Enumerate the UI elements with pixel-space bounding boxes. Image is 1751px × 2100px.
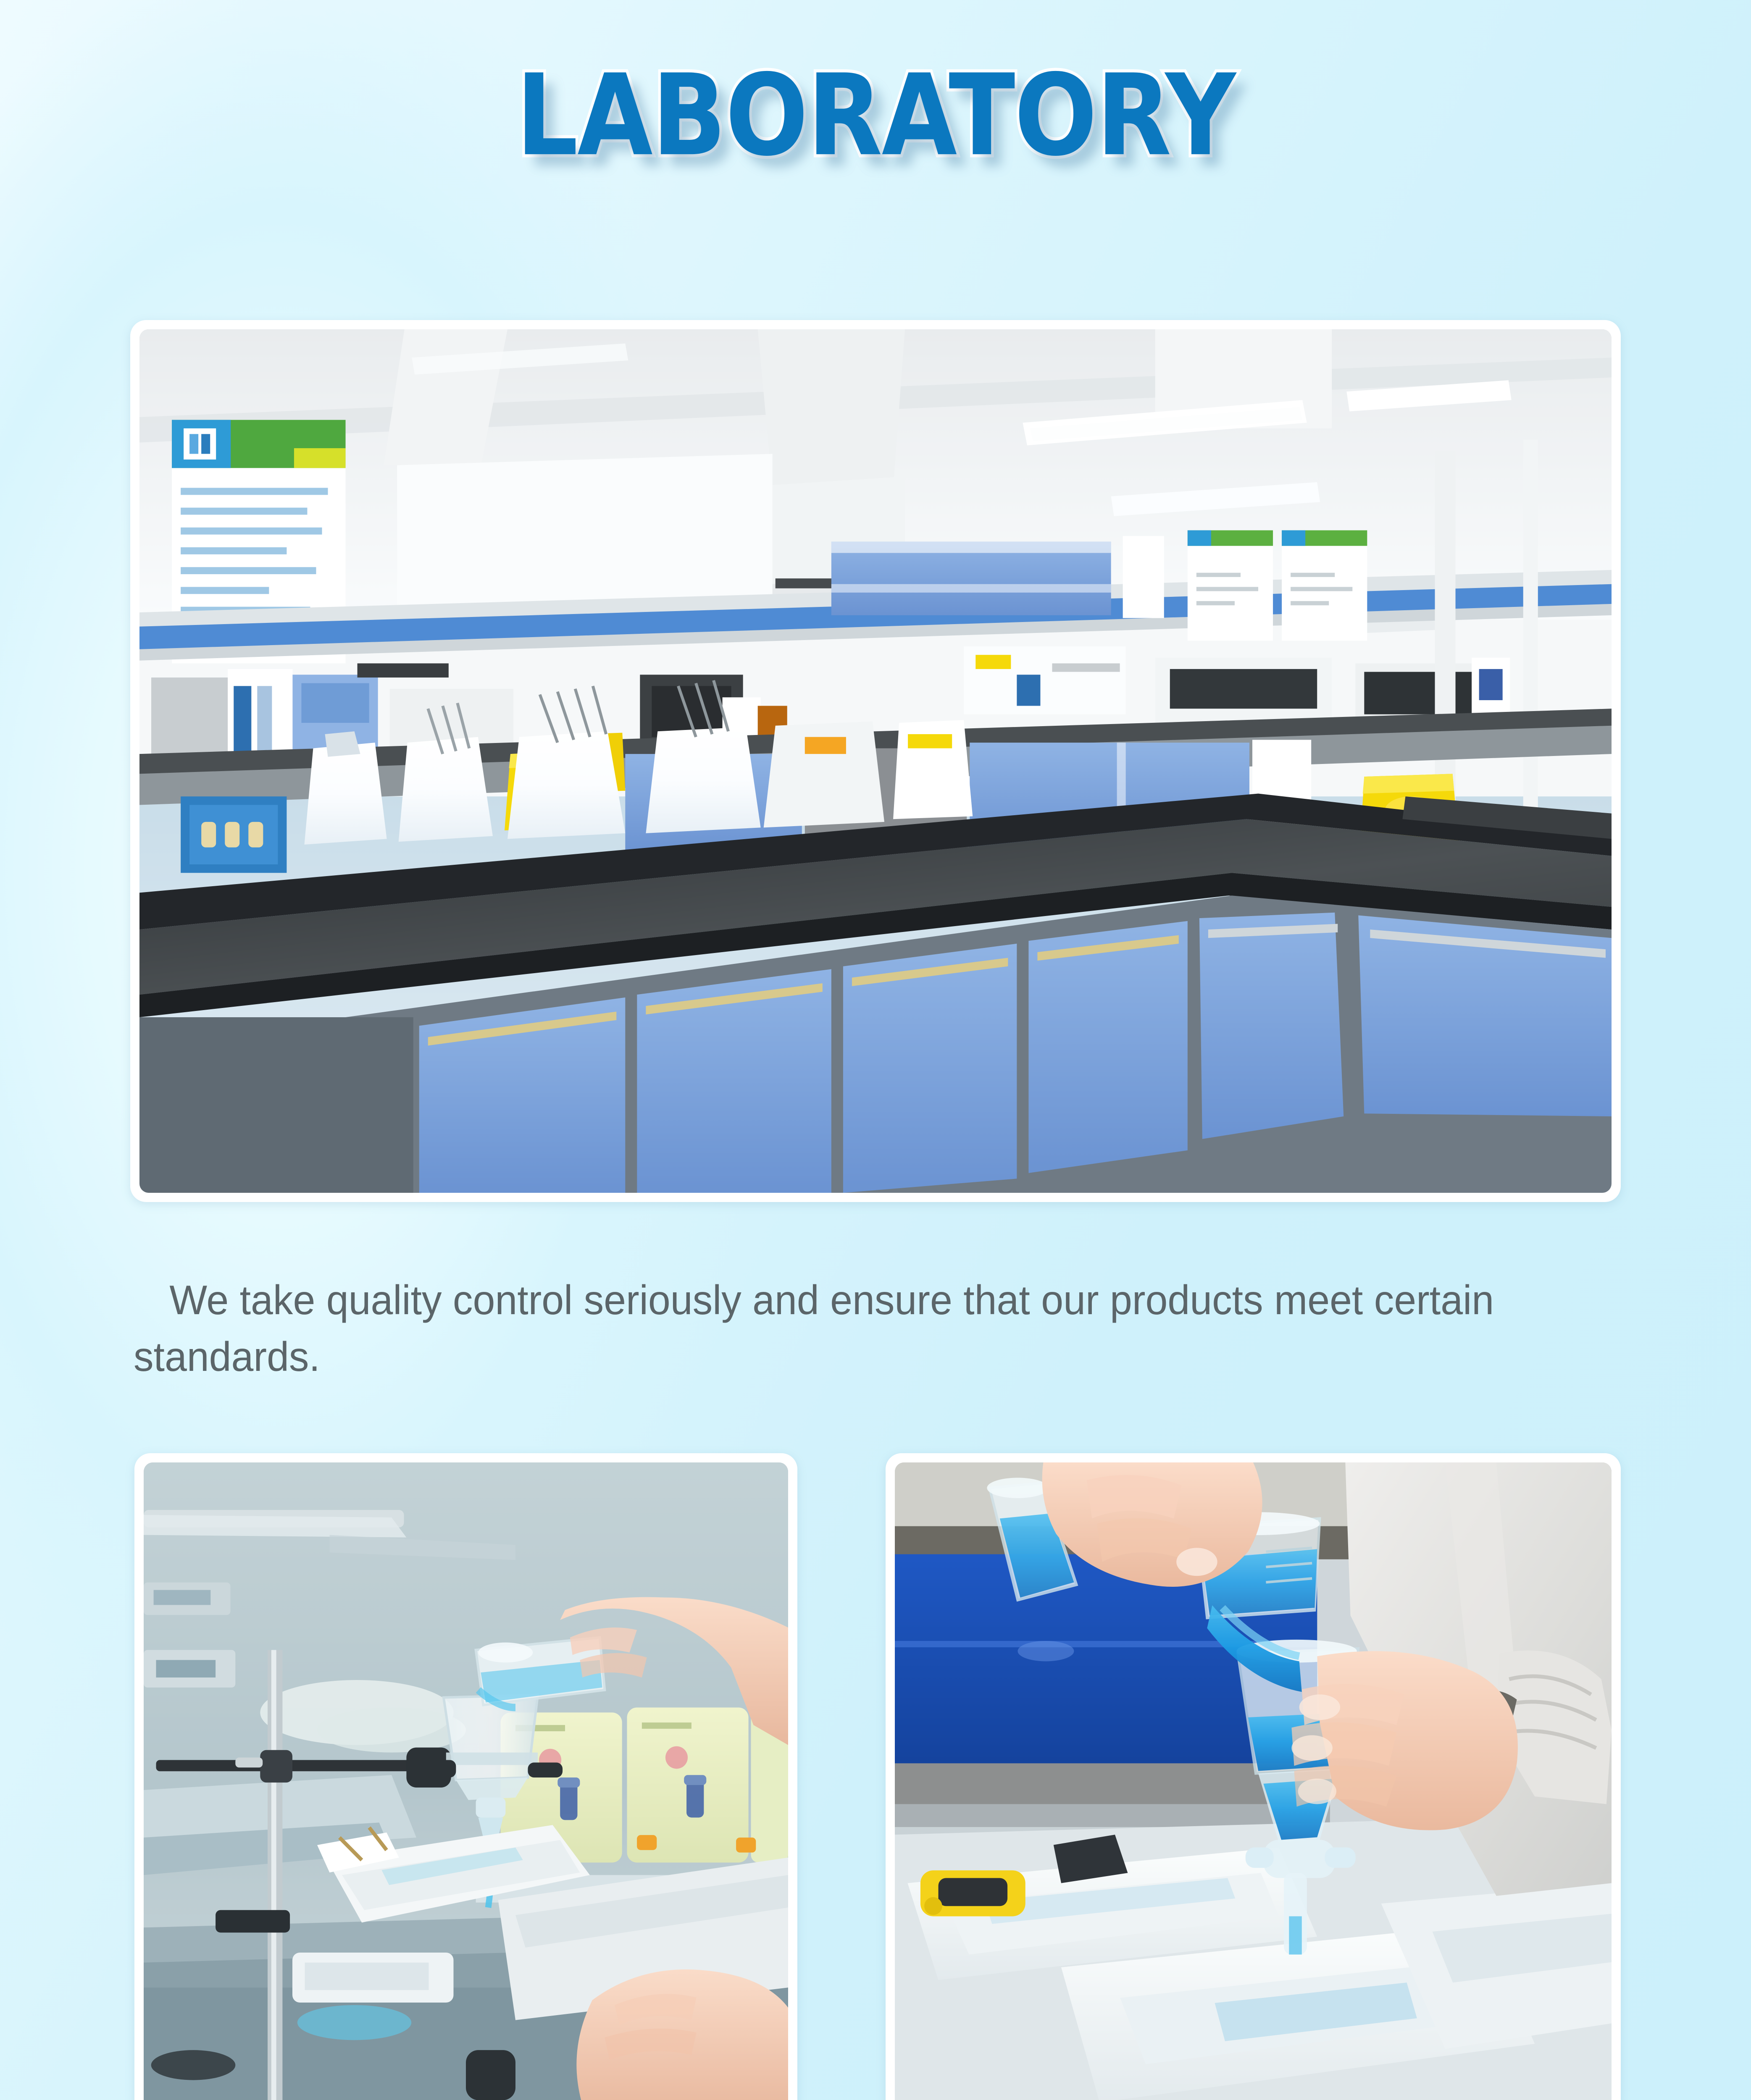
- photo-frame-funnel-pour-right: [886, 1453, 1621, 2100]
- page-title-container: LABORATORY: [0, 63, 1751, 169]
- tape-measure: [920, 1870, 1025, 1916]
- photo-frame-lab-overview: [130, 320, 1621, 1202]
- page-title: LABORATORY: [516, 60, 1235, 172]
- funnel-pour-left-scene: [144, 1462, 788, 2100]
- photo-frame-funnel-pour-left: [134, 1453, 797, 2100]
- photo-funnel-pour-right: [895, 1462, 1612, 2100]
- funnel-pour-right-scene: [895, 1462, 1612, 2100]
- lab-overview-scene: [139, 329, 1612, 1193]
- blue-control-unit: [181, 796, 287, 873]
- photo-lab-overview: [139, 329, 1612, 1193]
- photo-funnel-pour-left: [144, 1462, 788, 2100]
- intro-paragraph: We take quality control seriously and en…: [134, 1272, 1584, 1385]
